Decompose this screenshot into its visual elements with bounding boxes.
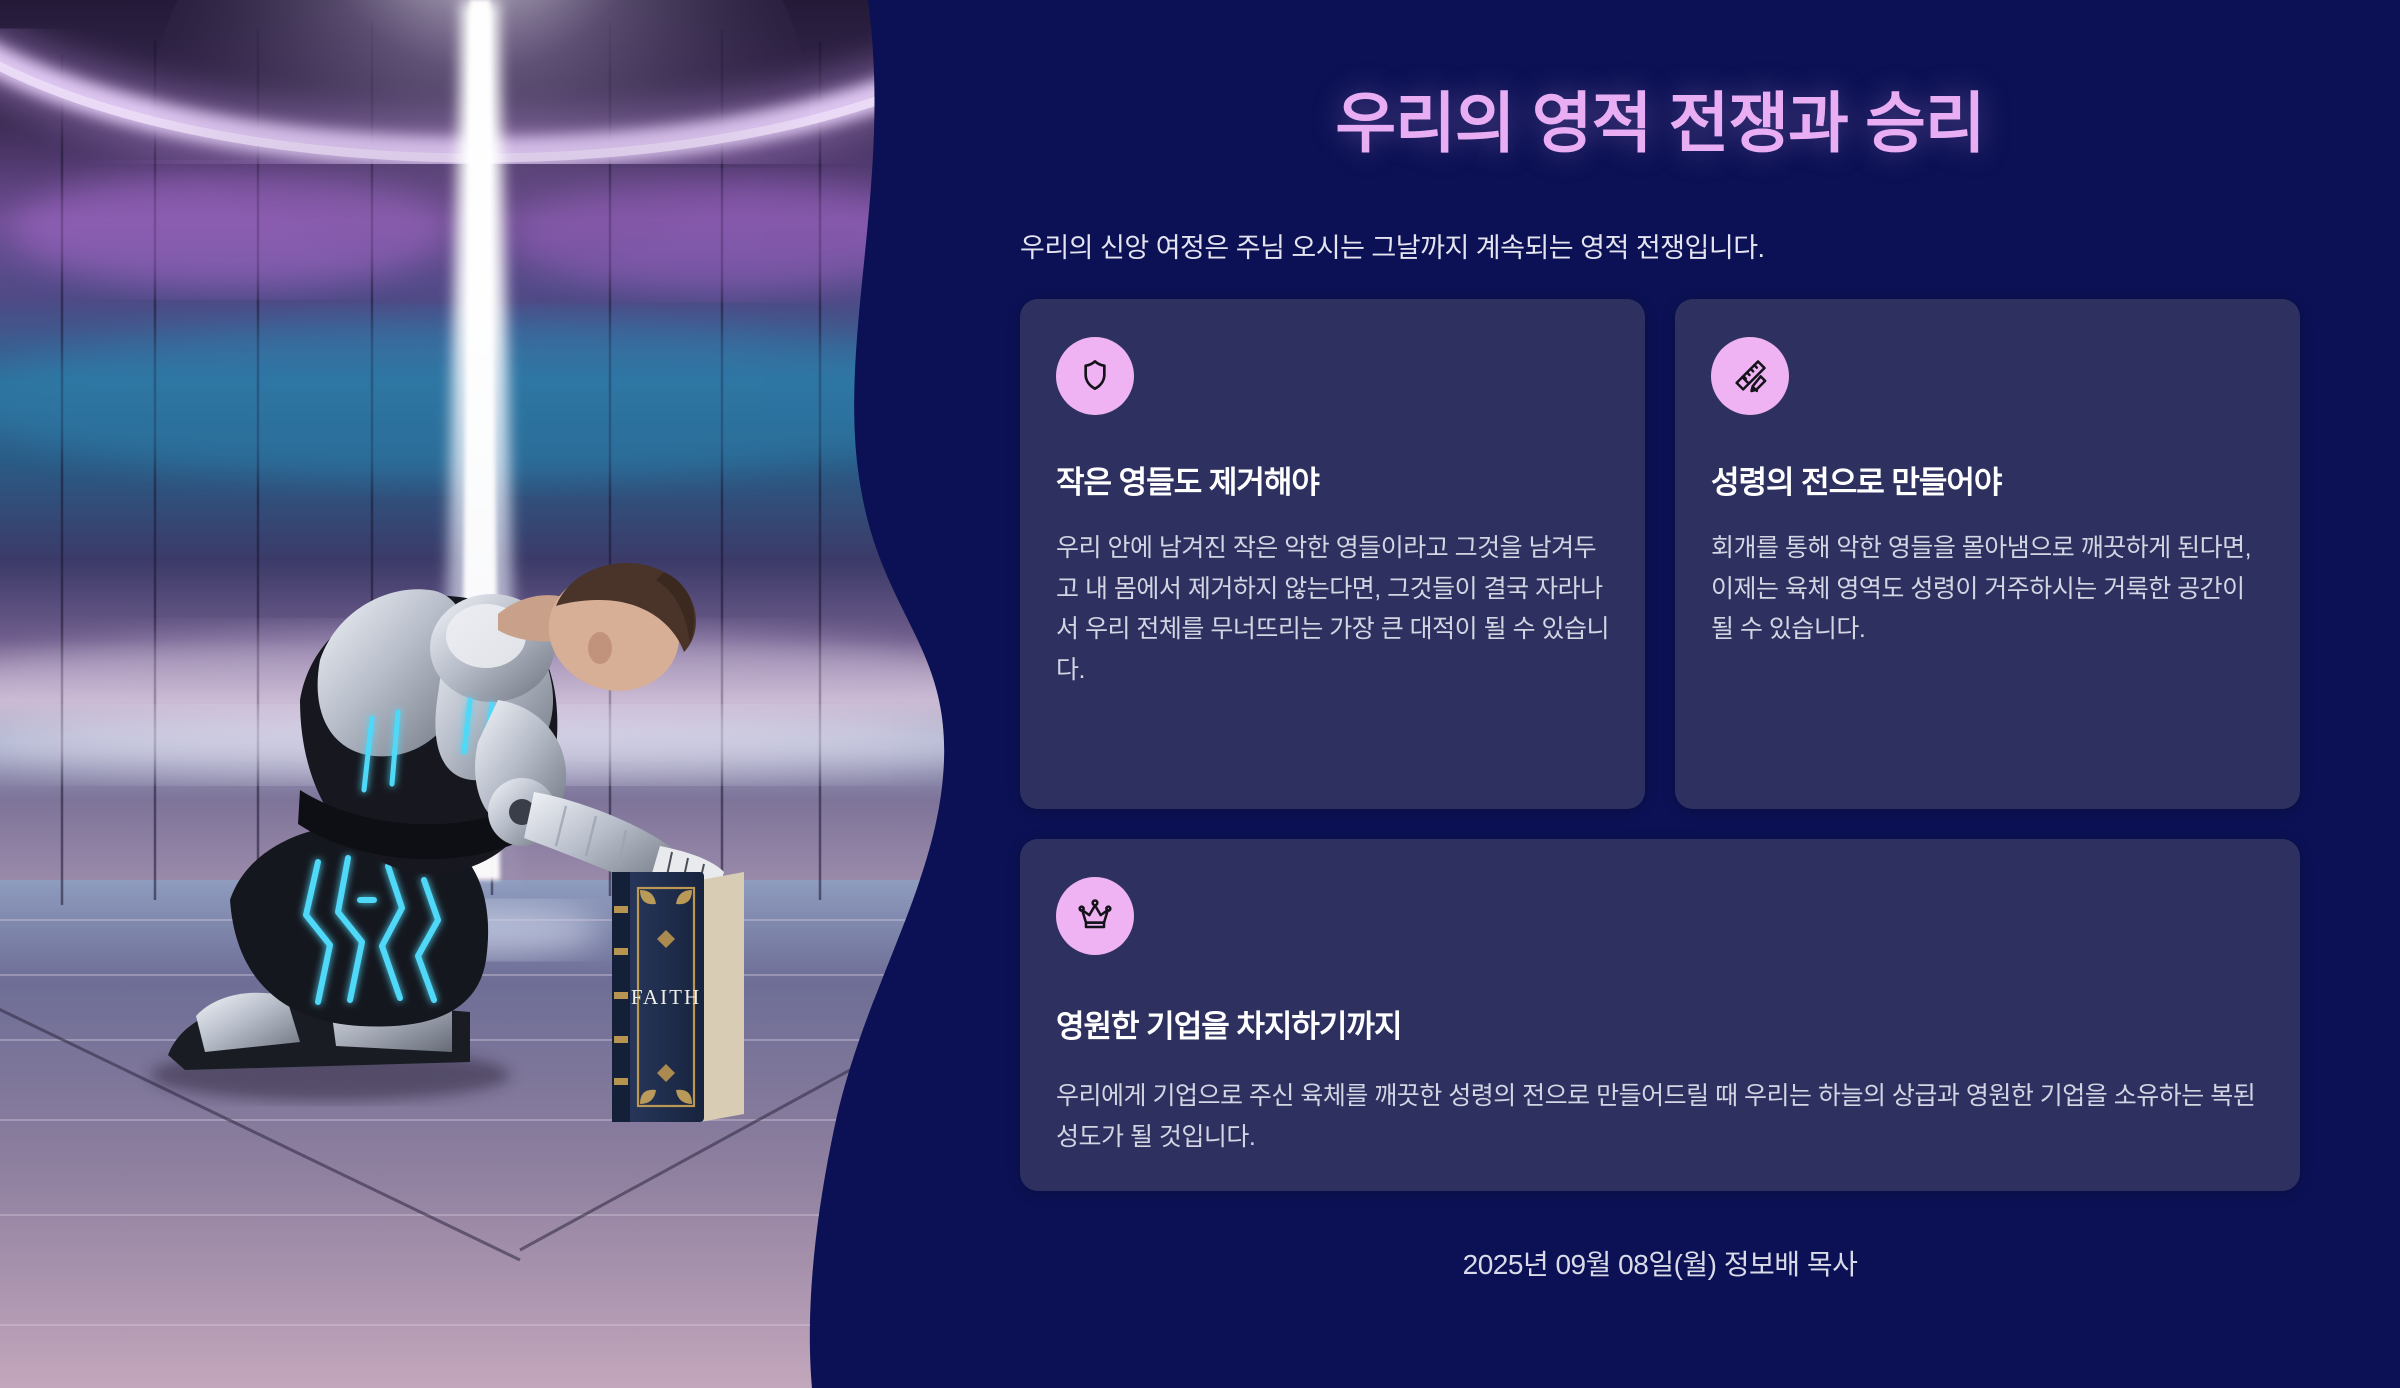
ruler-pencil-icon: [1730, 356, 1770, 396]
hero-scene-illustration: FAITH: [0, 0, 960, 1388]
ruler-pencil-icon-badge: [1711, 337, 1789, 415]
crown-icon-badge: [1056, 877, 1134, 955]
content-column: 우리의 영적 전쟁과 승리 우리의 신앙 여정은 주님 오시는 그날까지 계속되…: [1020, 0, 2300, 1388]
hero-image-panel: FAITH: [0, 0, 960, 1388]
card-body: 우리 안에 남겨진 작은 악한 영들이라고 그것을 남겨두고 내 몸에서 제거하…: [1056, 528, 1609, 690]
card-small-spirits[interactable]: 작은 영들도 제거해야 우리 안에 남겨진 작은 악한 영들이라고 그것을 남겨…: [1020, 299, 1645, 809]
card-grid: 작은 영들도 제거해야 우리 안에 남겨진 작은 악한 영들이라고 그것을 남겨…: [1020, 299, 2300, 1191]
page-title: 우리의 영적 전쟁과 승리: [1020, 70, 2300, 166]
crown-icon: [1075, 896, 1115, 936]
card-title: 성령의 전으로 만들어야: [1711, 457, 2264, 502]
page-subtitle: 우리의 신앙 여정은 주님 오시는 그날까지 계속되는 영적 전쟁입니다.: [1020, 226, 2300, 265]
card-temple-of-spirit[interactable]: 성령의 전으로 만들어야 회개를 통해 악한 영들을 몰아냄으로 깨끗하게 된다…: [1675, 299, 2300, 809]
shield-icon-badge: [1056, 337, 1134, 415]
card-eternal-inheritance[interactable]: 영원한 기업을 차지하기까지 우리에게 기업으로 주신 육체를 깨끗한 성령의 …: [1020, 839, 2300, 1191]
card-title: 작은 영들도 제거해야: [1056, 457, 1609, 502]
sermon-credit: 2025년 09월 08일(월) 정보배 목사: [1020, 1243, 2300, 1283]
shield-icon: [1075, 356, 1115, 396]
svg-text:FAITH: FAITH: [631, 985, 701, 1009]
card-body: 우리에게 기업으로 주신 육체를 깨끗한 성령의 전으로 만들어드릴 때 우리는…: [1056, 1076, 2264, 1157]
card-title: 영원한 기업을 차지하기까지: [1056, 1001, 2264, 1046]
card-body: 회개를 통해 악한 영들을 몰아냄으로 깨끗하게 된다면, 이제는 육체 영역도…: [1711, 528, 2264, 650]
